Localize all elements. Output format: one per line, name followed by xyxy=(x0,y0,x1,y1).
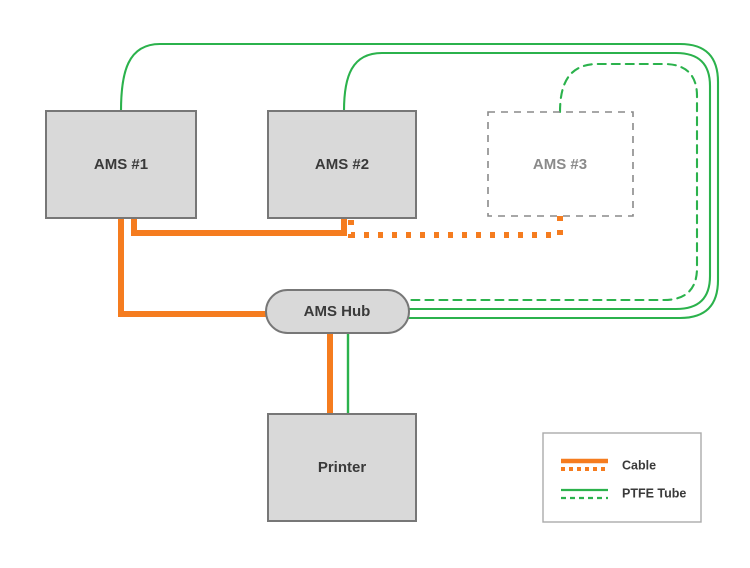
node-ams3-label: AMS #3 xyxy=(533,156,587,173)
node-printer[interactable]: Printer xyxy=(268,414,416,521)
node-printer-label: Printer xyxy=(318,459,367,476)
diagram-canvas: AMS #1 AMS #2 AMS #3 AMS Hub Printer xyxy=(0,0,750,568)
tube-ams3-to-hub[interactable] xyxy=(409,64,697,300)
node-ams2-label: AMS #2 xyxy=(315,156,369,173)
ams-wiring-diagram: AMS #1 AMS #2 AMS #3 AMS Hub Printer xyxy=(0,0,750,568)
node-ams2[interactable]: AMS #2 xyxy=(268,111,416,218)
cable-ams2-to-ams1[interactable] xyxy=(134,218,344,233)
node-ams1-label: AMS #1 xyxy=(94,156,148,173)
node-ams-hub[interactable]: AMS Hub xyxy=(266,290,409,333)
node-ams-hub-label: AMS Hub xyxy=(304,303,371,320)
legend-panel xyxy=(543,433,701,522)
node-ams1[interactable]: AMS #1 xyxy=(46,111,196,218)
tube-ams1-to-hub[interactable] xyxy=(121,44,718,318)
legend: Cable PTFE Tube xyxy=(543,433,701,522)
node-ams3[interactable]: AMS #3 xyxy=(488,112,633,216)
legend-cable-label: Cable xyxy=(622,458,656,472)
ptfe-tube-layer xyxy=(121,44,718,414)
legend-tube-label: PTFE Tube xyxy=(622,486,686,500)
